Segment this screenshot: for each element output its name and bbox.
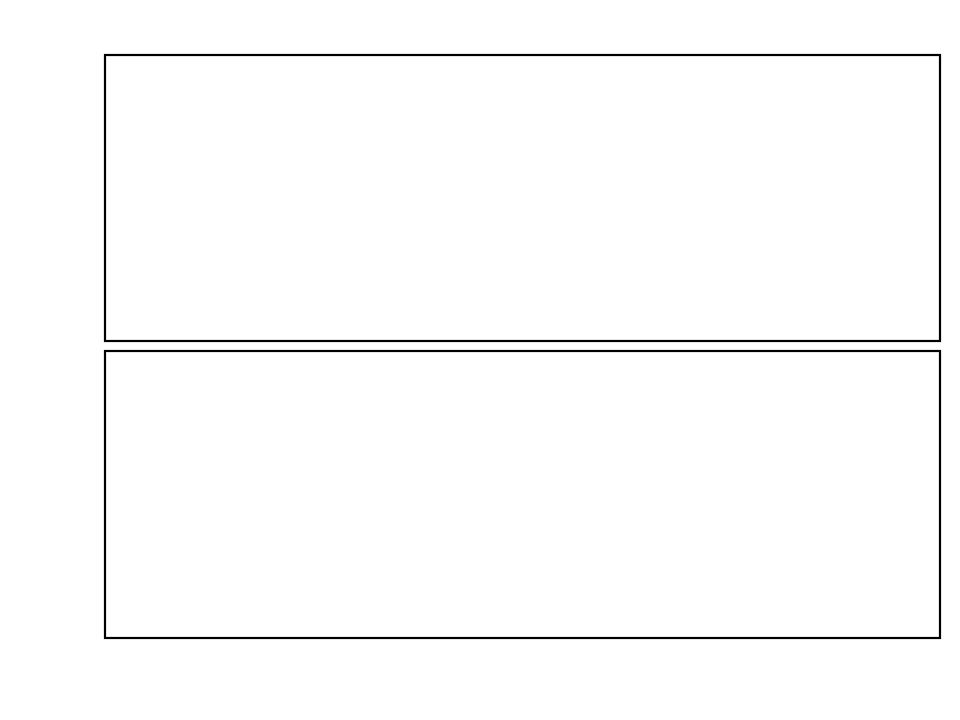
top-panel	[105, 55, 940, 341]
plot-svg	[0, 0, 960, 720]
top-panel-frame	[105, 55, 940, 341]
figure-canvas	[0, 0, 960, 720]
bottom-panel	[105, 351, 940, 638]
bottom-panel-frame	[105, 351, 940, 638]
